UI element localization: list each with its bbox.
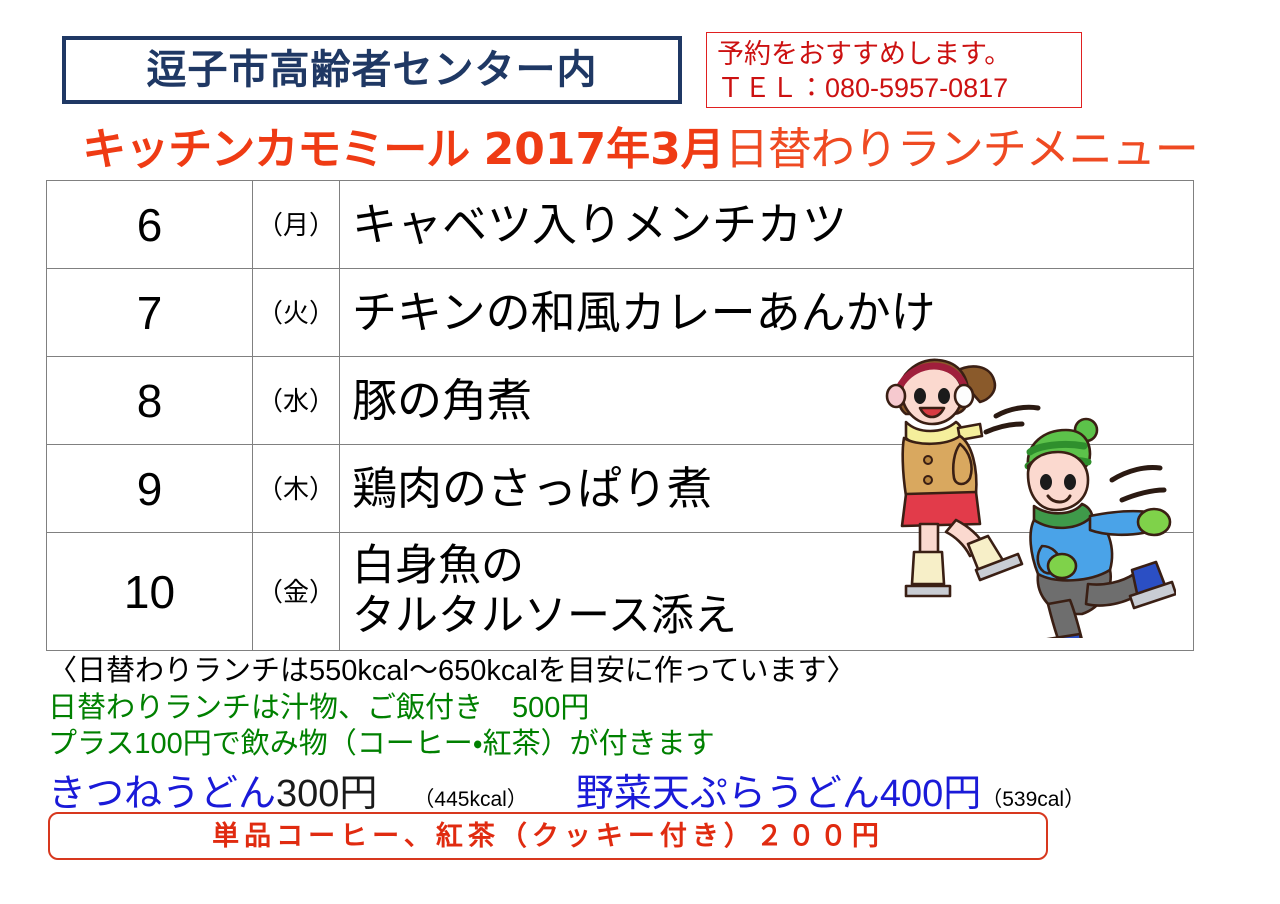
shop-name: キッチンカモミール	[82, 124, 469, 175]
cell-menu-item: チキンの和風カレーあんかけ	[340, 269, 1194, 357]
cell-weekday: （木）	[253, 445, 340, 533]
cell-date: 6	[47, 181, 253, 269]
cell-date: 7	[47, 269, 253, 357]
tempura-udon-calories: （539cal）	[981, 788, 1085, 811]
table-row: 8 （水） 豚の角煮	[47, 357, 1194, 445]
notes-block: 〈日替わりランチは550kcal〜650kcalを目安に作っています〉 日替わり…	[48, 652, 1248, 762]
cell-menu-item: キャベツ入りメンチカツ	[340, 181, 1194, 269]
note-set-meal: 日替わりランチは汁物、ご飯付き 500円	[48, 690, 1248, 726]
cell-menu-item: 鶏肉のさっぱり煮	[340, 445, 1194, 533]
daily-menu-table: 6 （月） キャベツ入りメンチカツ 7 （火） チキンの和風カレーあんかけ 8 …	[46, 180, 1194, 651]
menu-month: 2017年3月	[484, 124, 725, 175]
cell-weekday: （火）	[253, 269, 340, 357]
kitsune-udon-name: きつねうどん	[48, 773, 276, 815]
cell-weekday: （水）	[253, 357, 340, 445]
main-title: キッチンカモミール 2017年3月日替わりランチメニュー	[0, 124, 1280, 186]
table-row: 7 （火） チキンの和風カレーあんかけ	[47, 269, 1194, 357]
header-row: 逗子市高齢者センター内 予約をおすすめします。 ＴＥＬ：080-5957-081…	[0, 36, 1280, 114]
table-row: 9 （木） 鶏肉のさっぱり煮	[47, 445, 1194, 533]
menu-subtitle: 日替わりランチメニュー	[725, 125, 1198, 174]
cell-menu-item: 白身魚の タルタルソース添え	[340, 533, 1194, 651]
reservation-tel-box: 予約をおすすめします。 ＴＥＬ：080-5957-0817	[706, 32, 1082, 108]
kitsune-udon-price: 300円	[276, 773, 377, 815]
table-row: 6 （月） キャベツ入りメンチカツ	[47, 181, 1194, 269]
cell-date: 10	[47, 533, 253, 651]
note-calorie-range: 〈日替わりランチは550kcal〜650kcalを目安に作っています〉	[48, 652, 1248, 690]
udon-price-row: きつねうどん300円（445kcal）野菜天ぷらうどん400円（539cal）	[48, 762, 1248, 810]
venue-name: 逗子市高齢者センター内	[147, 50, 598, 90]
kitsune-udon-calories: （445kcal）	[413, 788, 527, 811]
table-row: 10 （金） 白身魚の タルタルソース添え	[47, 533, 1194, 651]
venue-box: 逗子市高齢者センター内	[62, 36, 682, 104]
cell-date: 9	[47, 445, 253, 533]
cell-date: 8	[47, 357, 253, 445]
cell-menu-item: 豚の角煮	[340, 357, 1194, 445]
cell-weekday: （月）	[253, 181, 340, 269]
tempura-udon-name-price: 野菜天ぷらうどん400円	[576, 773, 981, 815]
cell-weekday: （金）	[253, 533, 340, 651]
menu-flyer-page: 逗子市高齢者センター内 予約をおすすめします。 ＴＥＬ：080-5957-081…	[0, 0, 1280, 904]
menu-table-body: 6 （月） キャベツ入りメンチカツ 7 （火） チキンの和風カレーあんかけ 8 …	[47, 181, 1194, 651]
reservation-note: 予約をおすすめします。	[717, 37, 1073, 71]
note-drink-add-on: プラス100円で飲み物（コーヒー・紅茶）が付きます	[48, 726, 1248, 762]
coffee-tea-price-text: 単品コーヒー、紅茶（クッキー付き）２００円	[212, 823, 884, 850]
telephone-number: ＴＥＬ：080-5957-0817	[717, 71, 1073, 105]
coffee-tea-price-box: 単品コーヒー、紅茶（クッキー付き）２００円	[48, 812, 1048, 860]
